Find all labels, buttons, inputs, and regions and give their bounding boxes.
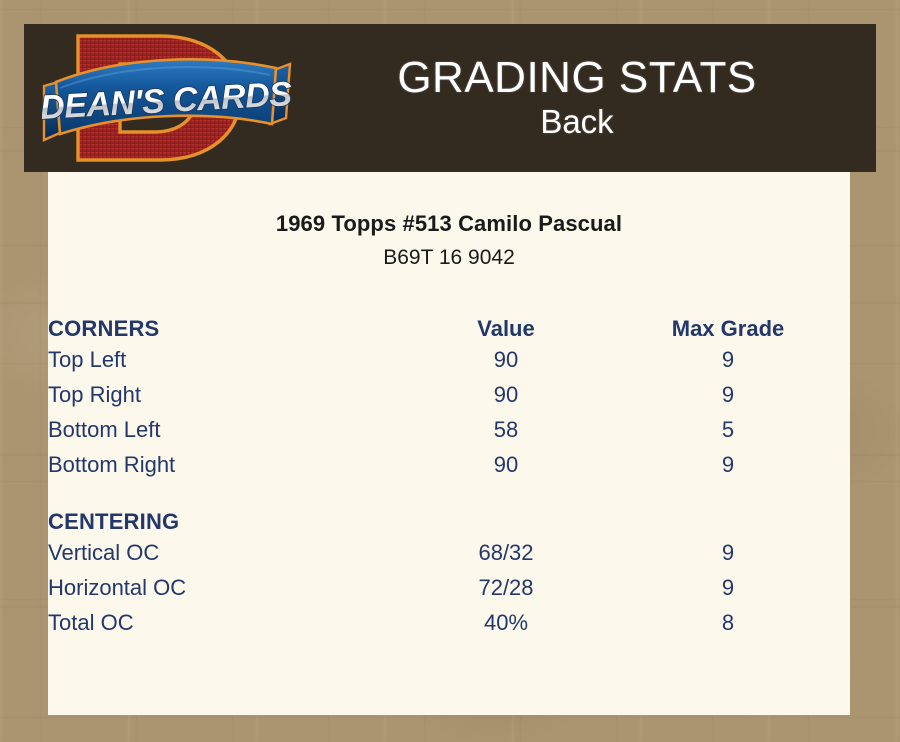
deans-cards-logo-icon: DEAN'S CARDS xyxy=(42,28,292,168)
section-centering-value-spacer xyxy=(406,497,606,535)
card-title: 1969 Topps #513 Camilo Pascual xyxy=(48,211,850,237)
row-value: 72/28 xyxy=(406,570,606,605)
grading-table-body: CORNERS Value Max Grade Top Left 90 9 To… xyxy=(48,304,850,640)
section-header-row-centering: CENTERING xyxy=(48,497,850,535)
row-max-grade: 5 xyxy=(606,412,850,447)
row-label: Top Left xyxy=(48,342,406,377)
row-value: 90 xyxy=(406,377,606,412)
row-max-grade: 8 xyxy=(606,605,850,640)
page-title: GRADING STATS xyxy=(292,54,862,102)
row-value: 58 xyxy=(406,412,606,447)
brand-logo[interactable]: DEAN'S CARDS xyxy=(24,24,292,172)
row-label: Horizontal OC xyxy=(48,570,406,605)
card-serial-number: B69T 16 9042 xyxy=(48,246,850,270)
row-label: Top Right xyxy=(48,377,406,412)
row-value: 68/32 xyxy=(406,535,606,570)
row-label: Total OC xyxy=(48,605,406,640)
section-spacer xyxy=(48,482,850,497)
page-subtitle: Back xyxy=(292,101,862,142)
section-title-centering: CENTERING xyxy=(48,497,406,535)
row-value: 40% xyxy=(406,605,606,640)
grading-stats-table: CORNERS Value Max Grade Top Left 90 9 To… xyxy=(48,304,850,640)
table-row: Bottom Right 90 9 xyxy=(48,447,850,482)
content-panel: 1969 Topps #513 Camilo Pascual B69T 16 9… xyxy=(48,172,850,715)
row-max-grade: 9 xyxy=(606,570,850,605)
table-row: Top Right 90 9 xyxy=(48,377,850,412)
row-label: Bottom Left xyxy=(48,412,406,447)
row-max-grade: 9 xyxy=(606,535,850,570)
table-row: Top Left 90 9 xyxy=(48,342,850,377)
row-value: 90 xyxy=(406,447,606,482)
row-max-grade: 9 xyxy=(606,342,850,377)
row-max-grade: 9 xyxy=(606,377,850,412)
section-centering-max-spacer xyxy=(606,497,850,535)
column-header-max-grade: Max Grade xyxy=(606,304,850,342)
header-title-block: GRADING STATS Back xyxy=(292,54,876,143)
section-title-corners: CORNERS xyxy=(48,304,406,342)
table-row: Total OC 40% 8 xyxy=(48,605,850,640)
table-row: Horizontal OC 72/28 9 xyxy=(48,570,850,605)
row-max-grade: 9 xyxy=(606,447,850,482)
column-header-value: Value xyxy=(406,304,606,342)
table-row: Bottom Left 58 5 xyxy=(48,412,850,447)
row-label: Bottom Right xyxy=(48,447,406,482)
row-value: 90 xyxy=(406,342,606,377)
page-header: DEAN'S CARDS GRADING STATS Back xyxy=(24,24,876,172)
section-header-row-corners: CORNERS Value Max Grade xyxy=(48,304,850,342)
row-label: Vertical OC xyxy=(48,535,406,570)
table-row: Vertical OC 68/32 9 xyxy=(48,535,850,570)
